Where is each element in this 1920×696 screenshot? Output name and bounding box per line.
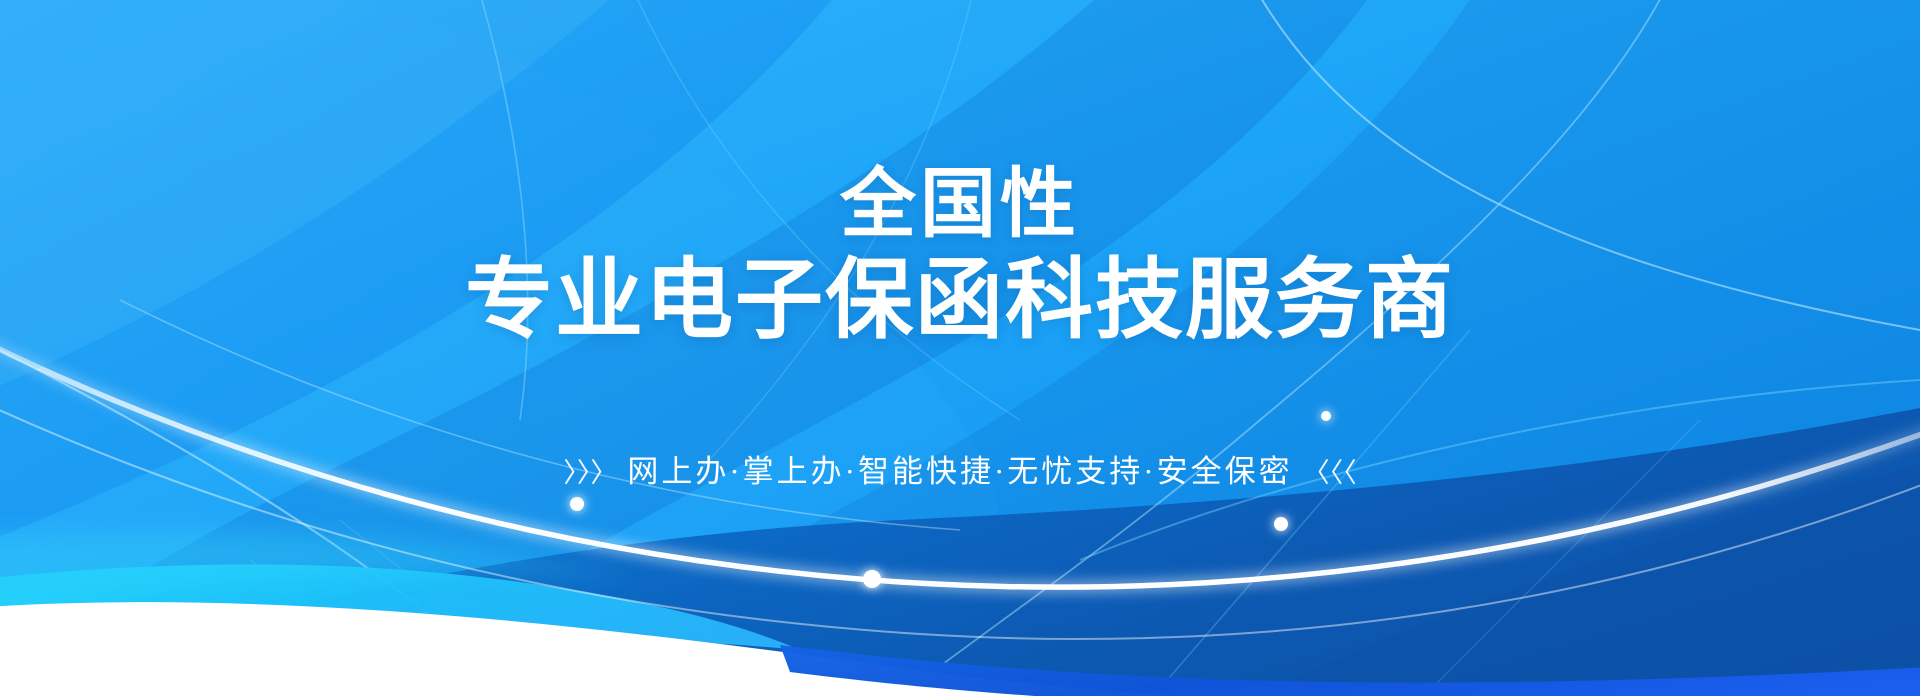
banner-background-art (0, 0, 1920, 696)
glow-dot-left (570, 497, 584, 511)
glow-dot-upper-right (1321, 411, 1331, 421)
glow-dot-right (1274, 517, 1288, 531)
glow-dot-center (863, 570, 881, 588)
hero-banner: 全国性 专业电子保函科技服务商 〉〉〉网上办·掌上办·智能快捷·无忧支持·安全保… (0, 0, 1920, 696)
